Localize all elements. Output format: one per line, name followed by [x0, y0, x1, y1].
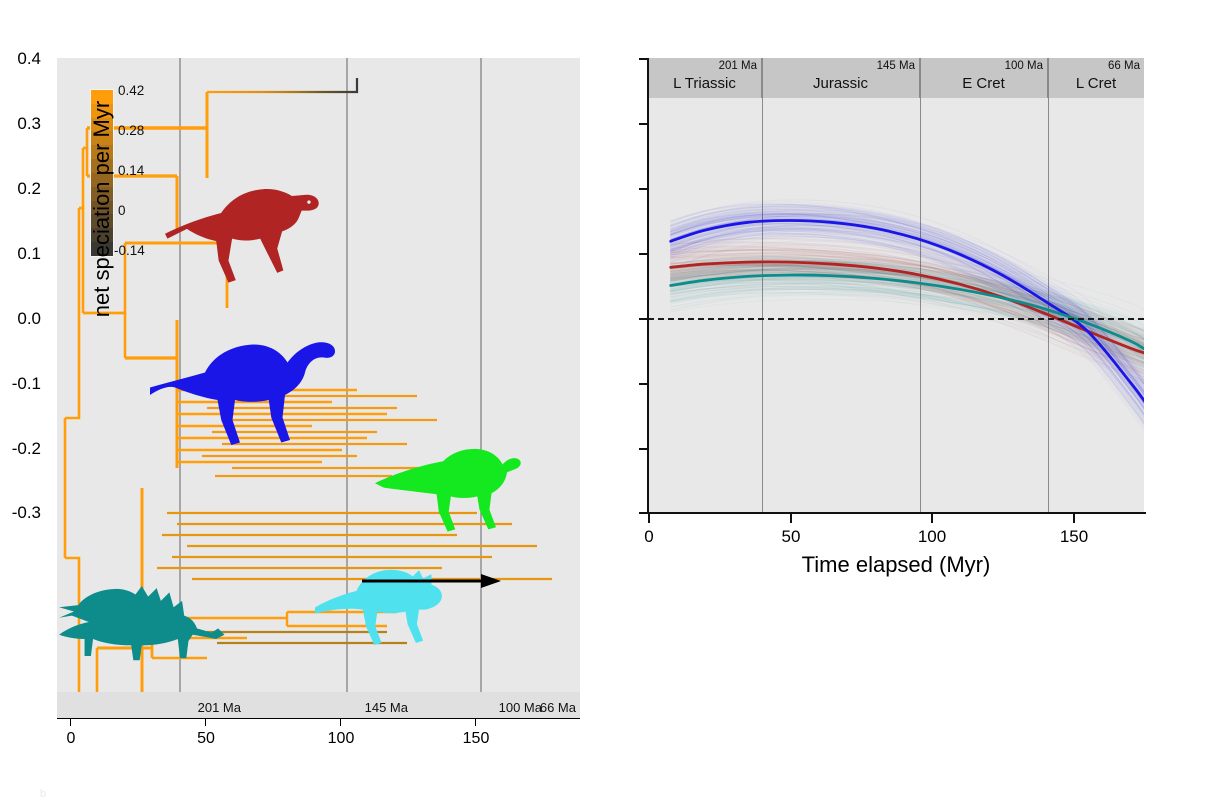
- main-xticklabel-50: 50: [782, 527, 801, 547]
- tree-xticklabel-50: 50: [197, 730, 215, 748]
- colorbar-label-1: 0.28: [118, 123, 144, 138]
- main-yticklabel-0_1: 0.1: [17, 244, 41, 264]
- tree-xtick-50: [205, 719, 206, 726]
- phylogeny-tree-graphic: [57, 58, 580, 718]
- main-xtick-150: [1073, 514, 1075, 523]
- dinosaur-phylogeny-panel: [57, 58, 580, 718]
- main-yticklabel-n0_1: -0.1: [12, 374, 41, 394]
- rate-curves-graphic: [648, 58, 1144, 513]
- main-ytick-0_2: [639, 188, 648, 190]
- tree-xticklabel-100: 100: [328, 730, 355, 748]
- tree-epoch-145: 145 Ma: [245, 700, 412, 715]
- main-xticklabel-0: 0: [644, 527, 653, 547]
- main-ytick-0_3: [639, 123, 648, 125]
- colorbar-label-3: 0: [118, 203, 126, 218]
- main-xticklabel-100: 100: [918, 527, 946, 547]
- main-xtick-100: [931, 514, 933, 523]
- theropoda-subtree: [87, 78, 580, 573]
- hadrosaur-silhouette: [375, 449, 521, 532]
- colorbar-label-0: 0.42: [118, 83, 144, 98]
- colorbar-label-2: 0.14: [118, 163, 144, 178]
- tree-xtick-100: [340, 719, 341, 726]
- main-ytick-0_0: [639, 318, 648, 320]
- main-x-axis-line: [646, 512, 1146, 514]
- main-yticklabel-n0_3: -0.3: [12, 503, 41, 523]
- main-y-axis-line: [647, 58, 649, 513]
- figure-caption-sliver: b: [40, 788, 46, 800]
- main-ytick-n0_1: [639, 383, 648, 385]
- main-ytick-n0_3: [639, 512, 648, 514]
- main-yticklabel-0_3: 0.3: [17, 114, 41, 134]
- main-xticklabel-150: 150: [1060, 527, 1088, 547]
- main-ytick-0_1: [639, 253, 648, 255]
- sauropodomorpha-subtree: [125, 320, 580, 476]
- tree-xtick-150: [475, 719, 476, 726]
- x-axis-label: Time elapsed (Myr): [646, 552, 1146, 578]
- tree-epoch-66: 66 Ma: [494, 700, 580, 715]
- tree-xticklabel-150: 150: [463, 730, 490, 748]
- y-axis-label: net speciation per Myr: [89, 24, 115, 394]
- tree-xtick-0: [70, 719, 71, 726]
- main-xtick-0: [648, 514, 650, 523]
- tree-xticklabel-0: 0: [67, 730, 76, 748]
- net-speciation-plot: 201 Ma L Triassic 145 Ma Jurassic 100 Ma…: [648, 58, 1144, 513]
- main-yticklabel-0_4: 0.4: [17, 49, 41, 69]
- tree-epoch-201: 201 Ma: [57, 700, 245, 715]
- main-yticklabel-n0_2: -0.2: [12, 439, 41, 459]
- tree-x-axis-line: [57, 718, 580, 719]
- zero-reference-line: [648, 318, 1144, 320]
- main-yticklabel-0_0: 0.0: [17, 309, 41, 329]
- colorbar-label-4: -0.14: [114, 243, 145, 258]
- main-xtick-50: [790, 514, 792, 523]
- main-ytick-n0_2: [639, 448, 648, 450]
- main-yticklabel-0_2: 0.2: [17, 179, 41, 199]
- tree-epoch-strip: 201 Ma 145 Ma 100 Ma 66 Ma: [57, 692, 580, 718]
- main-ytick-0_4: [639, 58, 648, 60]
